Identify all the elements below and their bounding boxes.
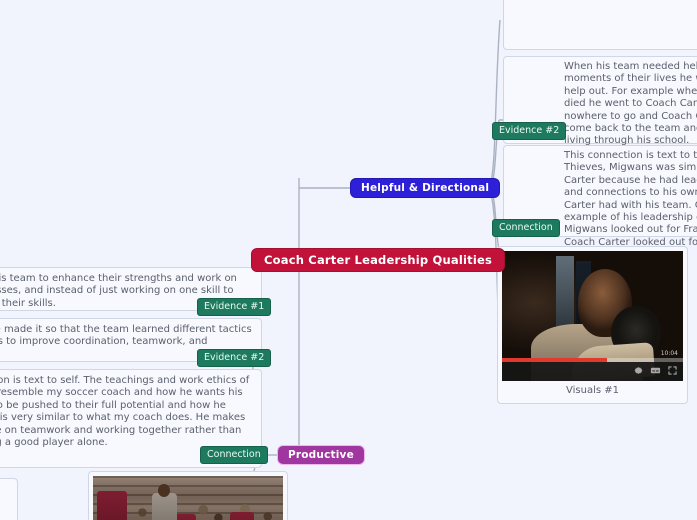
root-node-coach-carter[interactable]: Coach Carter Leadership Qualities [251, 248, 505, 272]
branch-node-productive[interactable]: Productive [277, 445, 365, 465]
evidence-card-right-1[interactable]: He set a lot of rules in place for the k… [503, 0, 697, 50]
branch-node-helpful-directional[interactable]: Helpful & Directional [350, 178, 500, 198]
mindmap-canvas[interactable]: He directed his team to enhance their st… [0, 0, 697, 520]
badge-connection-left[interactable]: Connection [200, 446, 268, 464]
connection-card-left-text: This connection is text to self. The tea… [0, 370, 261, 455]
video-player[interactable]: 10:04 [502, 251, 683, 381]
offscreen-card-bottom-left[interactable] [0, 478, 18, 520]
visuals-media-card[interactable]: 10:04 [497, 246, 688, 404]
coach-head [158, 484, 170, 497]
fullscreen-icon[interactable] [667, 365, 678, 376]
gym-photo-image [93, 476, 283, 520]
video-time-label: 10:04 [661, 350, 678, 357]
video-control-bar[interactable] [502, 362, 683, 381]
coach-figure [152, 493, 177, 520]
badge-evidence-1-left[interactable]: Evidence #1 [197, 298, 271, 316]
badge-connection-right[interactable]: Connection [492, 219, 560, 237]
visuals-caption: Visuals #1 [502, 381, 683, 396]
badge-evidence-2-right[interactable]: Evidence #2 [492, 122, 566, 140]
player-jersey-1 [97, 491, 127, 520]
player-jersey-3 [230, 512, 255, 520]
subtitles-icon[interactable] [650, 365, 661, 376]
gym-photo-card[interactable] [88, 471, 288, 520]
settings-icon[interactable] [633, 365, 644, 376]
video-scene-panel [556, 256, 574, 331]
badge-evidence-2-left[interactable]: Evidence #2 [197, 349, 271, 367]
